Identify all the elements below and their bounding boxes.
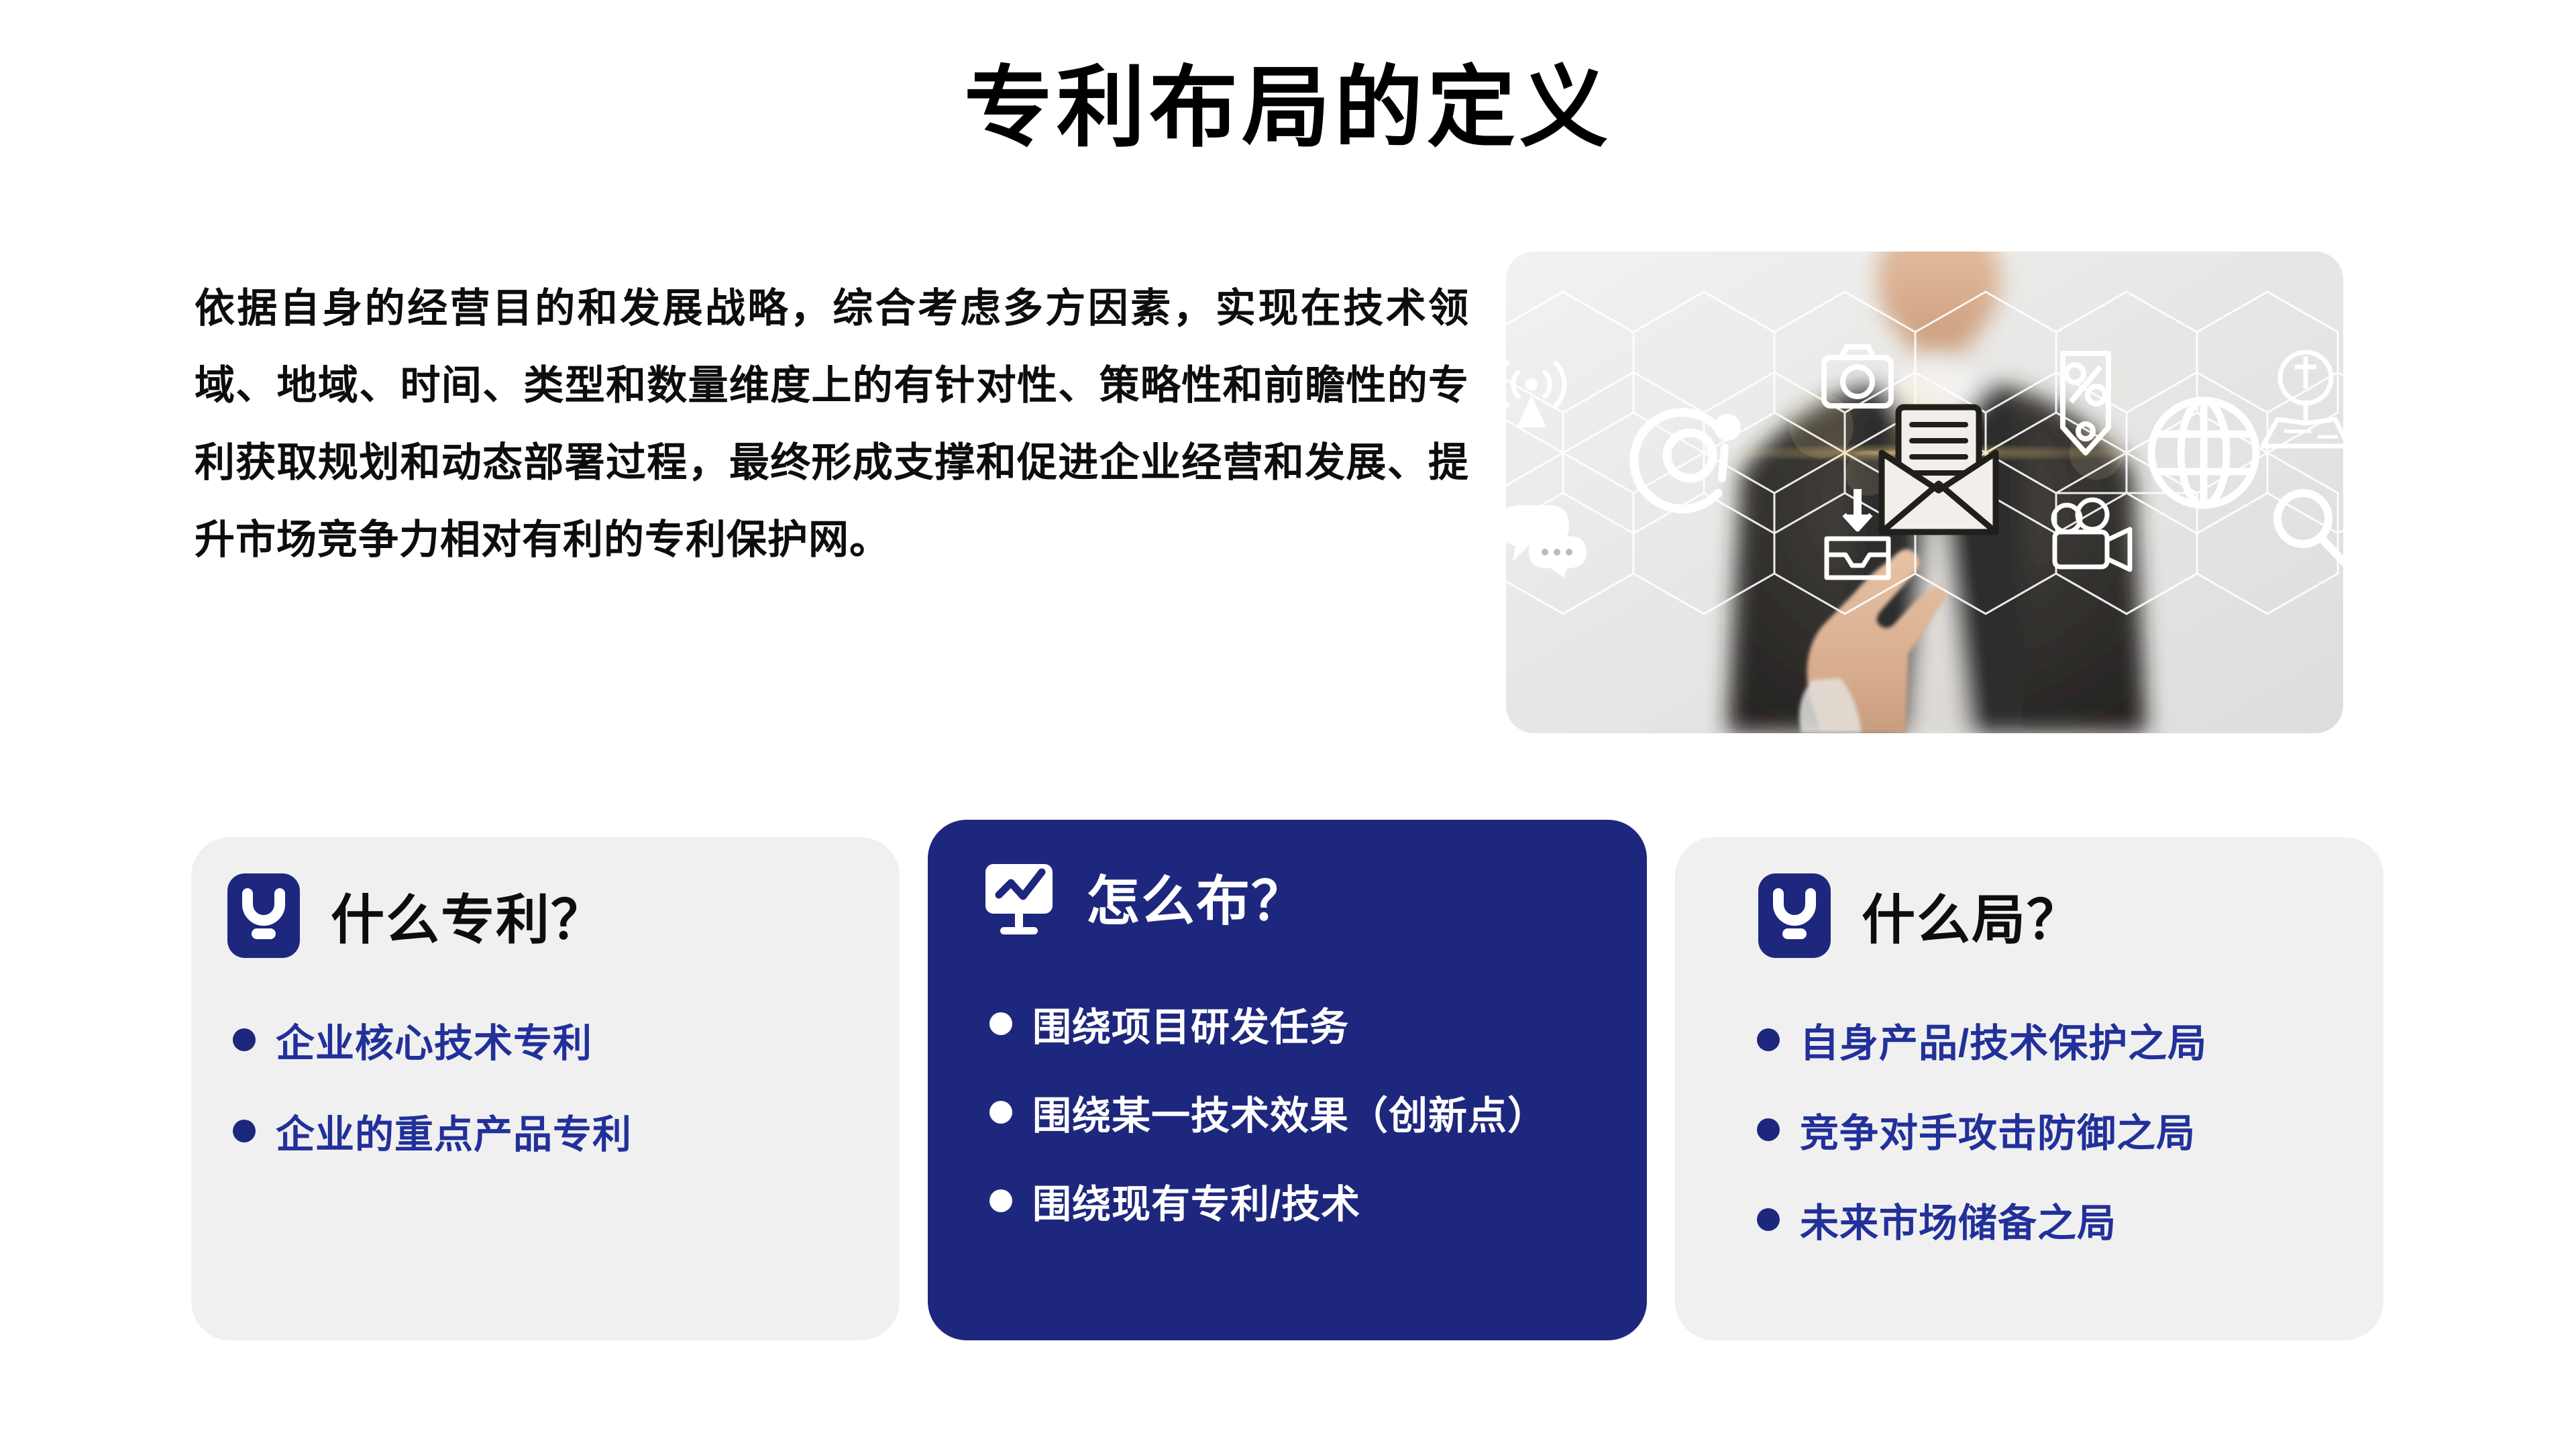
card-how-to-layout[interactable]: 怎么布？ 围绕项目研发任务 围绕某一技术效果（创新点） 围绕现有专利/技术 [928,820,1647,1340]
bullet-dot-icon [989,1012,1012,1035]
page-title: 专利布局的定义 [0,59,2576,156]
card-title: 怎么布？ [1086,858,1306,936]
bullet-dot-icon [233,1120,256,1142]
bullet-dot-icon [989,1101,1012,1124]
card-header: 怎么布？ [928,820,1647,941]
card-what-layout[interactable]: 什么局？ 自身产品/技术保护之局 竞争对手攻击防御之局 未来市场储备之局 [1675,837,2383,1340]
bullet-dot-icon [1757,1118,1780,1141]
card-what-patent[interactable]: 什么专利？ 企业核心技术专利 企业的重点产品专利 [191,837,900,1340]
bullet-dot-icon [233,1028,256,1051]
list-item: 围绕现有专利/技术 [989,1173,1647,1229]
card-header: 什么专利？ [191,837,900,959]
list-item-label: 企业核心技术专利 [276,1012,592,1068]
robot-face-icon [226,872,301,959]
robot-face-icon [1757,872,1832,959]
bullet-dot-icon [1757,1208,1780,1231]
list-item: 企业核心技术专利 [233,1012,900,1068]
list-item-label: 未来市场储备之局 [1800,1191,2116,1248]
card-title: 什么局？ [1862,877,2082,955]
intro-paragraph-text: 依据自身的经营目的和发展战略，综合考虑多方因素，实现在技术领域、地域、时间、类型… [195,270,1469,578]
list-item: 围绕项目研发任务 [989,996,1647,1052]
list-item-label: 竞争对手攻击防御之局 [1800,1102,2196,1158]
monitor-line-chart-icon [981,853,1057,941]
intro-paragraph-block: 依据自身的经营目的和发展战略，综合考虑多方因素，实现在技术领域、地域、时间、类型… [195,270,1469,578]
list-item: 未来市场储备之局 [1757,1191,2383,1248]
hero-image [1506,252,2343,733]
list-item: 企业的重点产品专利 [233,1103,900,1159]
list-item: 竞争对手攻击防御之局 [1757,1102,2383,1158]
card-bullet-list: 企业核心技术专利 企业的重点产品专利 [191,959,900,1159]
card-title: 什么专利？ [331,877,606,955]
list-item-label: 围绕某一技术效果（创新点） [1032,1084,1547,1140]
bullet-dot-icon [989,1189,1012,1212]
list-item-label: 企业的重点产品专利 [276,1103,632,1159]
hero-image-graphic [1506,252,2343,733]
list-item-label: 自身产品/技术保护之局 [1800,1012,2207,1068]
card-bullet-list: 自身产品/技术保护之局 竞争对手攻击防御之局 未来市场储备之局 [1675,959,2383,1248]
list-item: 自身产品/技术保护之局 [1757,1012,2383,1068]
card-header: 什么局？ [1675,837,2383,959]
bullet-dot-icon [1757,1028,1780,1051]
list-item: 围绕某一技术效果（创新点） [989,1084,1647,1140]
list-item-label: 围绕项目研发任务 [1032,996,1349,1052]
list-item-label: 围绕现有专利/技术 [1032,1173,1360,1229]
card-bullet-list: 围绕项目研发任务 围绕某一技术效果（创新点） 围绕现有专利/技术 [928,941,1647,1229]
